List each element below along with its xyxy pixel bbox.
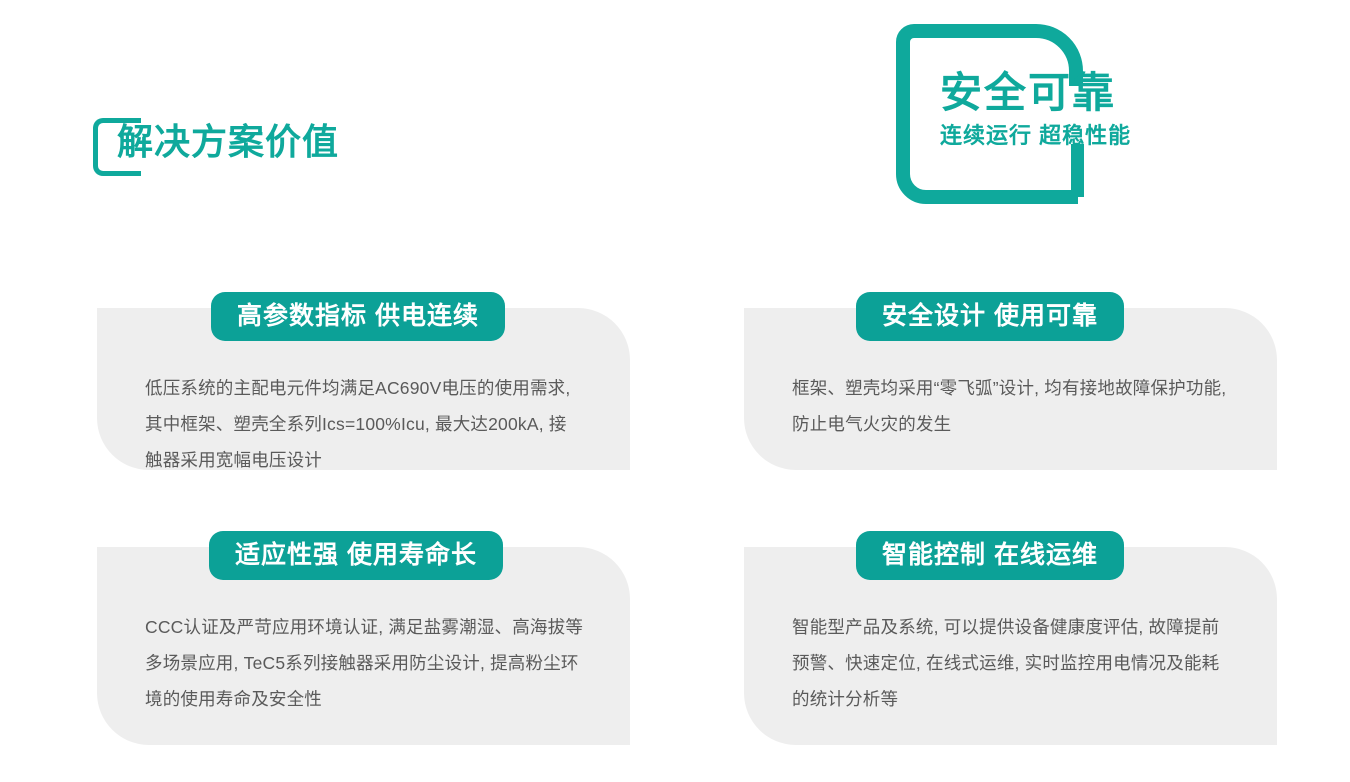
feature-card-badge: 安全设计 使用可靠 xyxy=(856,292,1124,341)
logo-subtitle: 连续运行 超稳性能 xyxy=(940,120,1180,152)
feature-card: 适应性强 使用寿命长 CCC认证及严苛应用环境认证, 满足盐雾潮湿、高海拔等多场… xyxy=(97,531,630,745)
page-title-group: 解决方案价值 xyxy=(93,112,513,182)
logo-text-group: 安全可靠 连续运行 超稳性能 xyxy=(940,68,1180,152)
feature-card-badge: 适应性强 使用寿命长 xyxy=(209,531,503,580)
feature-card-description: CCC认证及严苛应用环境认证, 满足盐雾潮湿、高海拔等多场景应用, TeC5系列… xyxy=(145,609,584,717)
feature-card-badge: 智能控制 在线运维 xyxy=(856,531,1124,580)
feature-card: 高参数指标 供电连续 低压系统的主配电元件均满足AC690V电压的使用需求, 其… xyxy=(97,292,630,470)
feature-card: 智能控制 在线运维 智能型产品及系统, 可以提供设备健康度评估, 故障提前预警、… xyxy=(744,531,1277,745)
feature-card: 安全设计 使用可靠 框架、塑壳均采用“零飞弧”设计, 均有接地故障保护功能, 防… xyxy=(744,292,1277,470)
logo-title: 安全可靠 xyxy=(940,68,1180,118)
feature-card-description: 智能型产品及系统, 可以提供设备健康度评估, 故障提前预警、快速定位, 在线式运… xyxy=(792,609,1231,717)
feature-card-badge: 高参数指标 供电连续 xyxy=(211,292,505,341)
feature-card-description: 框架、塑壳均采用“零飞弧”设计, 均有接地故障保护功能, 防止电气火灾的发生 xyxy=(792,370,1231,442)
logo-mark: 安全可靠 连续运行 超稳性能 xyxy=(896,24,1084,204)
feature-card-description: 低压系统的主配电元件均满足AC690V电压的使用需求, 其中框架、塑壳全系列Ic… xyxy=(145,370,584,478)
page-title: 解决方案价值 xyxy=(117,112,339,172)
